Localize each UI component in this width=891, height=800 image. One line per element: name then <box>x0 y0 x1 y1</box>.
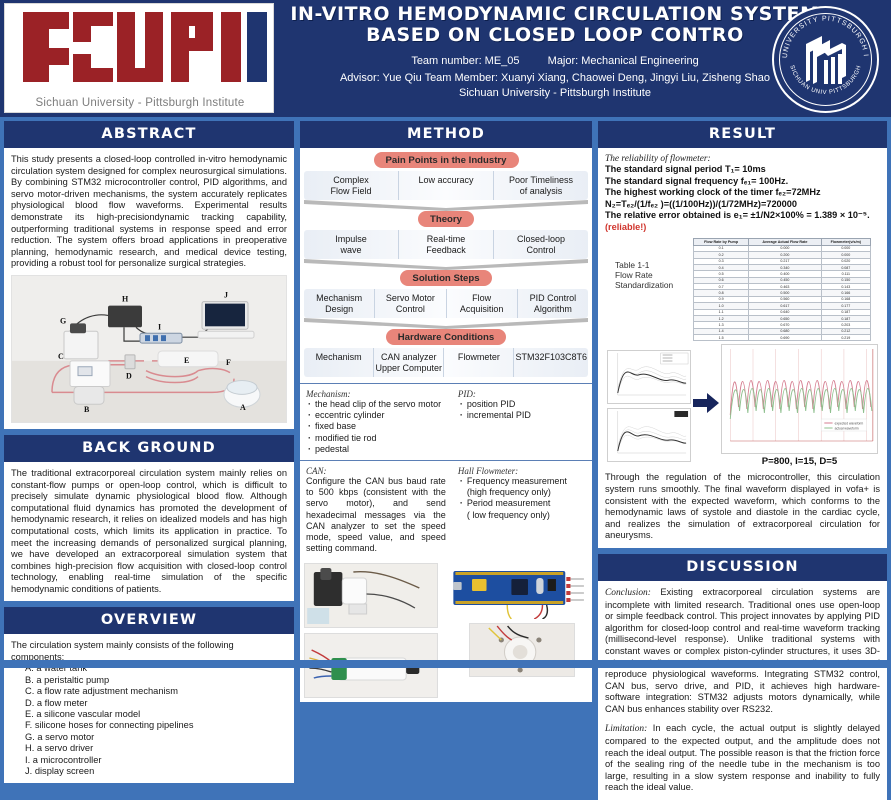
result-line: The standard signal period T₁= 10ms <box>605 164 880 176</box>
poster-title-line1: IN-VITRO HEMODYNAMIC CIRCULATION SYSTEM <box>280 4 830 25</box>
poster-header: Sichuan University - Pittsburgh Institut… <box>0 0 891 117</box>
list-item: Period measurement ( low frequency only) <box>467 498 586 520</box>
list-item: incremental PID <box>467 410 586 421</box>
reliable-badge: (reliable!) <box>605 222 646 232</box>
section-body-method: Pain Points in the Industry ComplexFlow … <box>300 148 592 702</box>
column-left: ABSTRACT This study presents a closed-lo… <box>4 121 294 783</box>
seal-monogram-icon <box>800 32 852 88</box>
result-line: The standard signal frequency fₑ₁= 100Hz… <box>605 176 880 188</box>
result-line: N₂=Tₑ₂/(1/fₑ₂ )=((1/100Hz))/(1/72MHz)=72… <box>605 199 880 211</box>
can-text: Configure the CAN bus baud rate to 500 k… <box>306 476 446 554</box>
section-title-result: RESULT <box>598 121 887 148</box>
result-formula-lines: The standard signal period T₁= 10ms The … <box>605 164 880 234</box>
flow-cell: Impulsewave <box>304 230 399 259</box>
list-item: J. display screen <box>11 766 287 777</box>
mechanism-label: Mechanism: <box>306 389 446 399</box>
list-item: C. a flow rate adjustment mechanism <box>11 686 287 697</box>
photo-flowmeter-head <box>469 623 575 677</box>
column-right: RESULT The reliability of flowmeter: The… <box>598 121 887 800</box>
svg-text:B: B <box>84 405 90 414</box>
flow-cell: Mechanism <box>304 348 374 377</box>
flow-rate-table: Flow Rate by PumpAverage Actual Flow Rat… <box>693 238 871 342</box>
pid-label: PID: <box>458 389 586 399</box>
table-header-row: Flow Rate by PumpAverage Actual Flow Rat… <box>694 238 871 245</box>
flow-cell: PID ControlAlgorithm <box>518 289 588 318</box>
section-title-overview: OVERVIEW <box>4 607 294 634</box>
flow-cell: Poor Timelinessof analysis <box>494 171 588 200</box>
team-members: Team Member: Xuanyi Xiang, Chaowei Deng,… <box>425 72 770 84</box>
flow-cell: MechanismDesign <box>304 289 375 318</box>
header-meta-row1: Team number: ME_05 Major: Mechanical Eng… <box>280 55 830 67</box>
section-title-method: METHOD <box>300 121 592 148</box>
flow-chevron-icon <box>304 200 588 211</box>
section-body-overview: The circulation system mainly consists o… <box>4 634 294 783</box>
section-title-discussion: DISCUSSION <box>598 554 887 581</box>
section-body-discussion: Conclusion: Existing extracorporeal circ… <box>598 581 887 800</box>
flow-pill-hardware-conditions: Hardware Conditions <box>386 329 506 345</box>
pid-list: position PID incremental PID <box>458 399 586 421</box>
method-hall-block: Hall Flowmeter: Frequency measurement (h… <box>452 461 592 559</box>
result-conclusion-text: Through the regulation of the microcontr… <box>605 472 880 542</box>
svg-text:G: G <box>60 316 66 325</box>
table-column-header: Average Actual Flow Rate <box>749 238 821 245</box>
table-cell: 1.5 <box>694 335 749 341</box>
footer-strip <box>0 660 891 668</box>
svg-text:F: F <box>226 358 231 367</box>
poster-title-line2: BASED ON CLOSED LOOP CONTRO <box>280 25 830 46</box>
mechanism-list: the head clip of the servo motor eccentr… <box>306 399 446 455</box>
table-cell: 0.219 <box>821 335 870 341</box>
list-item: F. silicone hoses for connecting pipelin… <box>11 720 287 731</box>
wss-plots-group <box>607 350 691 462</box>
flow-pill-pain-points: Pain Points in the Industry <box>374 152 519 168</box>
background-text: The traditional extracorporeal circulati… <box>11 468 287 596</box>
method-mechanism-pid-row: Mechanism: the head clip of the servo mo… <box>300 383 592 460</box>
list-item: eccentric cylinder <box>315 410 446 421</box>
svg-text:J: J <box>224 291 228 300</box>
method-can-block: CAN: Configure the CAN bus baud rate to … <box>300 461 452 559</box>
list-item: G. a servo motor <box>11 732 287 743</box>
arrow-right-icon <box>691 391 721 420</box>
list-item: D. a flow meter <box>11 698 287 709</box>
error-text: The relative error obtained is e₁= ±1/N2… <box>605 210 870 220</box>
flow-chevron-icon <box>304 259 588 270</box>
hall-flowmeter-list: Frequency measurement (high frequency on… <box>458 476 586 521</box>
svg-text:I: I <box>158 322 161 331</box>
section-title-background: BACK GROUND <box>4 435 294 462</box>
advisor: Advisor: Yue Qiu <box>340 72 422 84</box>
list-item: fixed base <box>315 421 446 432</box>
table-column-header: Flow Rate by Pump <box>694 238 749 245</box>
conclusion-label: Conclusion: <box>605 588 651 598</box>
flow-cell: Closed-loopControl <box>494 230 588 259</box>
list-item: modified tie rod <box>315 433 446 444</box>
flow-row-solution-steps: MechanismDesign Servo MotorControl FlowA… <box>304 289 588 318</box>
photo-stm32-board <box>443 563 588 619</box>
svg-text:actual waveform: actual waveform <box>835 427 859 431</box>
header-meta-row2: Advisor: Yue Qiu Team Member: Xuanyi Xia… <box>280 72 830 84</box>
wss-plot-top <box>607 350 691 404</box>
method-mechanism-block: Mechanism: the head clip of the servo mo… <box>300 384 452 460</box>
list-item: E. a silicone vascular model <box>11 709 287 720</box>
poster-root: Sichuan University - Pittsburgh Institut… <box>0 0 891 668</box>
flow-cell: Flowmeter <box>444 348 514 377</box>
list-item: B. a peristaltic pump <box>11 675 287 686</box>
team-number: Team number: ME_05 <box>411 55 519 67</box>
result-heading: The reliability of flowmeter: <box>605 154 880 164</box>
flow-pill-solution-steps: Solution Steps <box>400 270 491 286</box>
abstract-text: This study presents a closed-loop contro… <box>11 154 287 270</box>
flow-cell: STM32F103C8T6 <box>514 348 588 377</box>
flow-cell: Real-timeFeedback <box>399 230 494 259</box>
flow-cell: ComplexFlow Field <box>304 171 399 200</box>
photo-servo-mechanism <box>304 563 438 628</box>
method-flow-diagram: Pain Points in the Industry ComplexFlow … <box>300 148 592 379</box>
svg-text:D: D <box>126 372 132 381</box>
table-caption: Table 1-1 Flow Rate Standardization <box>605 238 693 290</box>
waveform-plot-block: expected waveform actual waveform P=800,… <box>721 344 878 467</box>
result-error-line: The relative error obtained is e₁= ±1/N2… <box>605 210 880 233</box>
method-can-hall-row: CAN: Configure the CAN bus baud rate to … <box>300 460 592 559</box>
scupi-logo-mark <box>5 4 274 88</box>
list-item: position PID <box>467 399 586 410</box>
flow-cell: Servo MotorControl <box>375 289 446 318</box>
table-column-header: Flowmeter(v/s/m) <box>821 238 870 245</box>
section-title-abstract: ABSTRACT <box>4 121 294 148</box>
list-item: I. a microcontroller <box>11 755 287 766</box>
result-line: The highest working clock of the timer f… <box>605 187 880 199</box>
discussion-conclusion: Conclusion: Existing extracorporeal circ… <box>605 587 880 716</box>
flow-row-hardware-conditions: Mechanism CAN analyzerUpper Computer Flo… <box>304 348 588 377</box>
flow-chevron-icon <box>304 318 588 329</box>
flow-row-pain-points: ComplexFlow Field Low accuracy Poor Time… <box>304 171 588 200</box>
discussion-limitation: Limitation: In each cycle, the actual ou… <box>605 723 880 794</box>
list-item: Frequency measurement (high frequency on… <box>467 476 586 498</box>
header-title-block: IN-VITRO HEMODYNAMIC CIRCULATION SYSTEM … <box>280 4 830 99</box>
pid-parameters: P=800, I=15, D=5 <box>721 456 878 467</box>
list-item: the head clip of the servo motor <box>315 399 446 410</box>
table-caption-line2: Flow Rate Standardization <box>615 270 693 290</box>
svg-text:A: A <box>240 403 246 412</box>
university-seal-icon: SICHUAN UNIVERSITY PITTSBURGH INSTITUTE … <box>772 6 879 113</box>
section-body-background: The traditional extracorporeal circulati… <box>4 462 294 602</box>
flow-cell: Low accuracy <box>399 171 494 200</box>
system-overview-photo: ABC DEF GHI J <box>11 275 287 423</box>
flow-row-theory: Impulsewave Real-timeFeedback Closed-loo… <box>304 230 588 259</box>
list-item: H. a servo driver <box>11 743 287 754</box>
conclusion-body: Existing extracorporeal circulation syst… <box>605 587 880 714</box>
svg-text:expected waveform: expected waveform <box>835 422 864 426</box>
svg-text:E: E <box>184 356 189 365</box>
table-cell: 0.690 <box>749 335 821 341</box>
system-diagram-illustration: ABC DEF GHI J <box>12 276 286 422</box>
hall-flowmeter-label: Hall Flowmeter: <box>458 466 586 476</box>
flow-cell: FlowAcquisition <box>447 289 518 318</box>
flow-cell: CAN analyzerUpper Computer <box>374 348 444 377</box>
method-pid-block: PID: position PID incremental PID <box>452 384 592 460</box>
svg-text:H: H <box>122 295 129 304</box>
result-charts-row: expected waveform actual waveform P=800,… <box>605 341 880 467</box>
list-item: pedestal <box>315 444 446 455</box>
can-label: CAN: <box>306 466 446 476</box>
scupi-logo-caption: Sichuan University - Pittsburgh Institut… <box>5 97 274 109</box>
svg-text:C: C <box>58 352 64 361</box>
section-body-result: The reliability of flowmeter: The standa… <box>598 148 887 548</box>
column-middle: METHOD Pain Points in the Industry Compl… <box>300 121 592 702</box>
wss-plot-bottom <box>607 408 691 462</box>
section-body-abstract: This study presents a closed-loop contro… <box>4 148 294 429</box>
flow-rate-table-block: Table 1-1 Flow Rate Standardization Flow… <box>605 238 880 342</box>
method-photo-grid <box>300 559 592 702</box>
major: Major: Mechanical Engineering <box>548 55 699 67</box>
table-row: 1.50.6900.219 <box>694 335 871 341</box>
institute-name: Sichuan University - Pittsburgh Institut… <box>280 87 830 99</box>
flow-pill-theory: Theory <box>418 211 474 227</box>
limitation-label: Limitation: <box>605 724 647 734</box>
waveform-plot: expected waveform actual waveform <box>721 344 878 454</box>
scupi-logo: Sichuan University - Pittsburgh Institut… <box>4 3 274 113</box>
table-caption-line1: Table 1-1 <box>615 260 693 270</box>
